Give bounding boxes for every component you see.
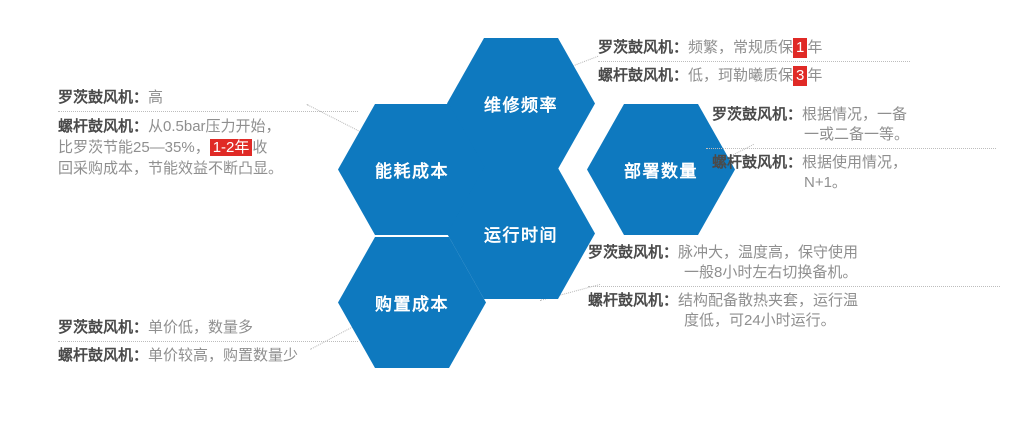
callout-purchase-cost: 罗茨鼓风机： 单价低，数量多 螺杆鼓风机： 单价较高，购置数量少 [58, 318, 358, 366]
brand-label-screw: 螺杆鼓风机： [58, 346, 148, 366]
value-text: 年 [807, 38, 822, 58]
callout-row-screw: 螺杆鼓风机：从0.5bar压力开始， 比罗茨节能25—35%，1-2年收 回采购… [58, 116, 358, 179]
hexagon-label: 能耗成本 [375, 157, 449, 182]
callout-row-roots: 罗茨鼓风机：根据情况，一备 一或二备一等。 [712, 105, 1012, 145]
callout-energy-cost: 罗茨鼓风机： 高 螺杆鼓风机：从0.5bar压力开始， 比罗茨节能25—35%，… [58, 88, 358, 179]
value-text: 根据使用情况， [802, 154, 907, 171]
value-text: 从0.5bar压力开始， [148, 118, 281, 135]
value-text: 脉冲大，温度高，保守使用 [678, 244, 858, 261]
callout-row-roots: 罗茨鼓风机：脉冲大，温度高，保守使用 一般8小时左右切换备机。 [588, 243, 1008, 283]
value-line: N+1。 [712, 173, 907, 193]
value-line: 螺杆鼓风机：结构配备散热夹套，运行温 [588, 291, 858, 311]
value-text: 频繁，常规质保 [688, 38, 793, 58]
infographic-canvas: 维修频率 能耗成本 部署数量 运行时间 购置成本 罗茨鼓风机： 高 螺杆鼓风机：… [0, 0, 1014, 436]
value-text: 根据情况，一备 [802, 106, 907, 123]
brand-label-roots: 罗茨鼓风机： [58, 318, 148, 338]
highlight-badge: 1-2年 [210, 139, 253, 156]
callout-deployment-quantity: 罗茨鼓风机：根据情况，一备 一或二备一等。 螺杆鼓风机：根据使用情况， N+1。 [712, 105, 1012, 193]
callout-row-screw: 螺杆鼓风机：结构配备散热夹套，运行温 度低，可24小时运行。 [588, 291, 1008, 331]
value-line: 一或二备一等。 [712, 125, 909, 145]
callout-row-screw: 螺杆鼓风机：根据使用情况， N+1。 [712, 153, 1012, 193]
value-text: 一般8小时左右切换备机。 [684, 264, 857, 281]
value-text: 收 [252, 139, 267, 156]
value-text: 低，珂勒曦质保 [688, 66, 793, 86]
brand-label-roots: 罗茨鼓风机： [598, 38, 688, 58]
value-text: 单价较高，购置数量少 [148, 346, 298, 366]
callout-row-roots: 罗茨鼓风机： 高 [58, 88, 358, 108]
hexagon-label: 维修频率 [484, 91, 558, 116]
highlight-badge: 1 [793, 38, 807, 58]
brand-label-roots: 罗茨鼓风机： [588, 244, 678, 261]
value-text: 一或二备一等。 [804, 126, 909, 143]
value-line: 螺杆鼓风机：根据使用情况， [712, 153, 907, 173]
value-line: 罗茨鼓风机：脉冲大，温度高，保守使用 [588, 243, 858, 263]
hexagon-label: 购置成本 [375, 290, 449, 315]
value-text: 单价低，数量多 [148, 318, 253, 338]
value-line: 罗茨鼓风机：根据情况，一备 [712, 105, 909, 125]
callout-row-screw: 螺杆鼓风机： 低，珂勒曦质保3年 [598, 66, 998, 86]
value-text: N+1。 [804, 174, 847, 191]
value-line: 度低，可24小时运行。 [588, 311, 858, 331]
callout-row-screw: 螺杆鼓风机： 单价较高，购置数量少 [58, 346, 358, 366]
value-text: 比罗茨节能25—35%， [58, 139, 210, 156]
brand-label-screw: 螺杆鼓风机： [712, 154, 802, 171]
callout-divider [598, 61, 910, 62]
value-text: 回采购成本，节能效益不断凸显。 [58, 160, 283, 177]
value-text: 度低，可24小时运行。 [684, 312, 836, 329]
callout-divider [58, 111, 358, 112]
callout-row-roots: 罗茨鼓风机： 单价低，数量多 [58, 318, 358, 338]
callout-divider [588, 286, 1000, 287]
value-text: 高 [148, 88, 163, 108]
brand-label-roots: 罗茨鼓风机： [712, 106, 802, 123]
callout-divider [58, 341, 358, 342]
value-line: 一般8小时左右切换备机。 [588, 263, 858, 283]
callout-runtime: 罗茨鼓风机：脉冲大，温度高，保守使用 一般8小时左右切换备机。 螺杆鼓风机：结构… [588, 243, 1008, 331]
value-text: 结构配备散热夹套，运行温 [678, 292, 858, 309]
value-line: 螺杆鼓风机：从0.5bar压力开始， [58, 116, 283, 137]
hexagon-label: 部署数量 [624, 157, 698, 182]
callout-divider [706, 148, 996, 149]
value-line: 比罗茨节能25—35%，1-2年收 [58, 137, 283, 158]
callout-maintenance-frequency: 罗茨鼓风机： 频繁，常规质保1年 螺杆鼓风机： 低，珂勒曦质保3年 [598, 38, 998, 86]
brand-label-screw: 螺杆鼓风机： [598, 66, 688, 86]
hexagon-label: 运行时间 [484, 221, 558, 246]
brand-label-screw: 螺杆鼓风机： [58, 118, 148, 135]
value-text: 年 [807, 66, 822, 86]
value-line: 回采购成本，节能效益不断凸显。 [58, 158, 283, 179]
brand-label-screw: 螺杆鼓风机： [588, 292, 678, 309]
callout-row-roots: 罗茨鼓风机： 频繁，常规质保1年 [598, 38, 998, 58]
brand-label-roots: 罗茨鼓风机： [58, 88, 148, 108]
highlight-badge: 3 [793, 66, 807, 86]
